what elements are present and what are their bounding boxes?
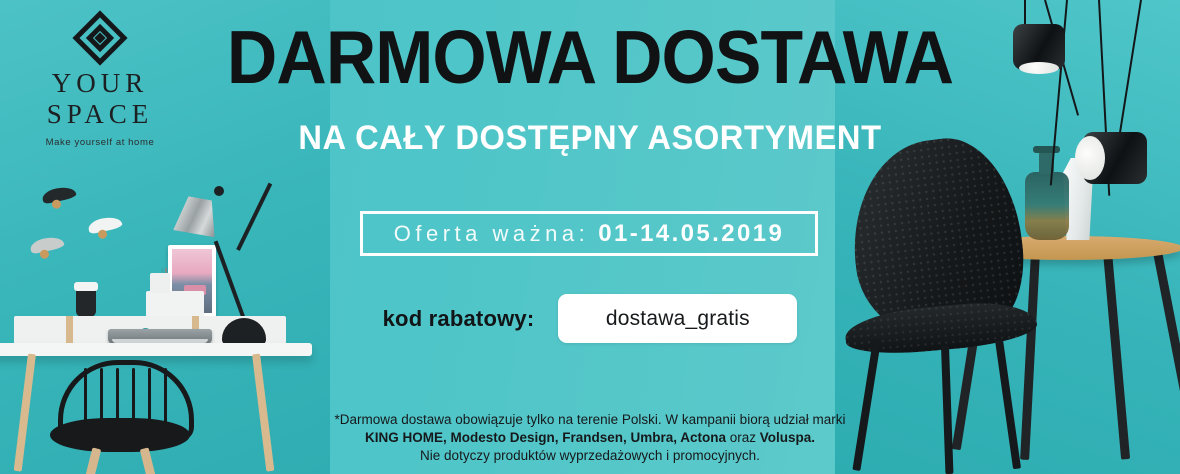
fineprint-brands: KING HOME, Modesto Design, Frandsen, Umb…: [365, 430, 726, 445]
coupon-row: kod rabatowy: dostawa_gratis: [0, 294, 1180, 343]
fineprint-conjunction: oraz: [726, 430, 760, 445]
desk-surface: [0, 343, 312, 356]
offer-validity-box: Oferta ważna: 01-14.05.2019: [360, 211, 818, 256]
fineprint-line-1: *Darmowa dostawa obowiązuje tylko na ter…: [0, 411, 1180, 429]
fineprint-line-3: Nie dotyczy produktów wyprzedażowych i p…: [0, 447, 1180, 465]
fineprint: *Darmowa dostawa obowiązuje tylko na ter…: [0, 411, 1180, 464]
promo-headline: DARMOWA DOSTAWA: [41, 22, 1138, 93]
offer-validity-dates: 01-14.05.2019: [598, 220, 784, 248]
coupon-code-box[interactable]: dostawa_gratis: [558, 294, 797, 343]
offer-validity-label: Oferta ważna:: [394, 221, 589, 247]
coupon-label: kod rabatowy:: [383, 306, 535, 332]
coupon-code-value: dostawa_gratis: [606, 307, 750, 331]
promo-banner: YOUR SPACE Make yourself at home DARMOWA…: [0, 0, 1180, 474]
desk-lamp-joint: [214, 186, 224, 196]
cup-lid: [74, 282, 98, 291]
fineprint-last-brand: Voluspa.: [760, 430, 815, 445]
fineprint-line-2: KING HOME, Modesto Design, Frandsen, Umb…: [0, 429, 1180, 447]
promo-subheadline: NA CAŁY DOSTĘPNY ASORTYMENT: [24, 119, 1157, 158]
